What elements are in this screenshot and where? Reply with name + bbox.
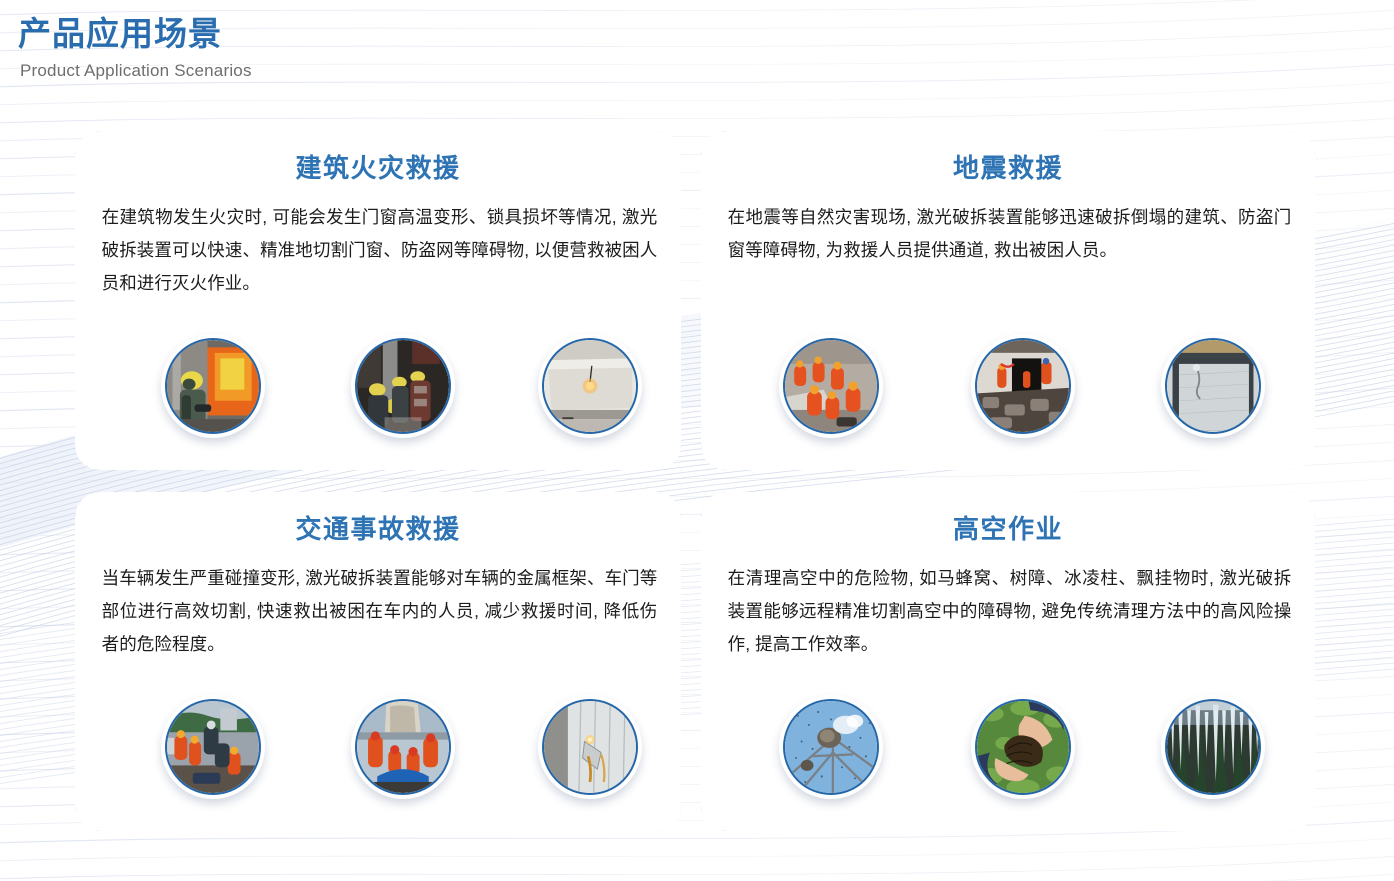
page-title-cn: 产品应用场景: [18, 14, 252, 54]
scenario-card-grid: 建筑火灾救援 在建筑物发生火灾时, 可能会发生门窗高温变形、锁具损坏等情况, 激…: [0, 0, 1394, 881]
wasp-nest-on-power-pylon-photo[interactable]: [779, 695, 883, 799]
page-header: 产品应用场景 Product Application Scenarios: [18, 14, 252, 81]
card-description: 在建筑物发生火灾时, 可能会发生门窗高温变形、锁具损坏等情况, 激光破拆装置可以…: [102, 201, 658, 300]
scenario-card-traffic-accident-rescue[interactable]: 交通事故救援 当车辆发生严重碰撞变形, 激光破拆装置能够对车辆的金属框架、车门等…: [75, 492, 681, 831]
security-window-frame-photo[interactable]: [1161, 334, 1265, 438]
laser-cutting-concrete-block-photo[interactable]: [538, 334, 642, 438]
card-title: 建筑火灾救援: [77, 151, 680, 185]
page-subtitle-en: Product Application Scenarios: [20, 61, 252, 81]
firefighters-spraying-flames-photo[interactable]: [161, 334, 265, 438]
card-photo-row: [77, 695, 680, 813]
card-photo-row: [703, 334, 1314, 452]
icicles-on-trees-photo[interactable]: [1161, 695, 1265, 799]
vehicle-extrication-training-photo[interactable]: [351, 695, 455, 799]
card-description: 在地震等自然灾害现场, 激光破拆装置能够迅速破拆倒塌的建筑、防盗门窗等障碍物, …: [728, 201, 1292, 267]
firefighters-in-smoke-corridor-photo[interactable]: [351, 334, 455, 438]
hands-holding-honeycomb-photo[interactable]: [971, 695, 1075, 799]
card-title: 高空作业: [703, 512, 1314, 546]
card-title: 地震救援: [703, 151, 1314, 185]
card-photo-row: [77, 334, 680, 452]
card-title: 交通事故救援: [77, 512, 680, 546]
scenario-card-earthquake-rescue[interactable]: 地震救援 在地震等自然灾害现场, 激光破拆装置能够迅速破拆倒塌的建筑、防盗门窗等…: [701, 131, 1315, 470]
scenario-card-building-fire-rescue[interactable]: 建筑火灾救援 在建筑物发生火灾时, 可能会发生门窗高温变形、锁具损坏等情况, 激…: [75, 131, 681, 470]
collapsed-building-rescue-photo[interactable]: [971, 334, 1075, 438]
roadside-crash-rescue-photo[interactable]: [161, 695, 265, 799]
rescuers-searching-rubble-photo[interactable]: [779, 334, 883, 438]
card-photo-row: [703, 695, 1314, 813]
scenario-card-aerial-work[interactable]: 高空作业 在清理高空中的危险物, 如马蜂窝、树障、冰凌柱、飘挂物时, 激光破拆装…: [701, 492, 1315, 831]
laser-cutting-metal-panel-photo[interactable]: [538, 695, 642, 799]
card-description: 当车辆发生严重碰撞变形, 激光破拆装置能够对车辆的金属框架、车门等部位进行高效切…: [102, 562, 658, 661]
card-description: 在清理高空中的危险物, 如马蜂窝、树障、冰凌柱、飘挂物时, 激光破拆装置能够远程…: [728, 562, 1292, 661]
